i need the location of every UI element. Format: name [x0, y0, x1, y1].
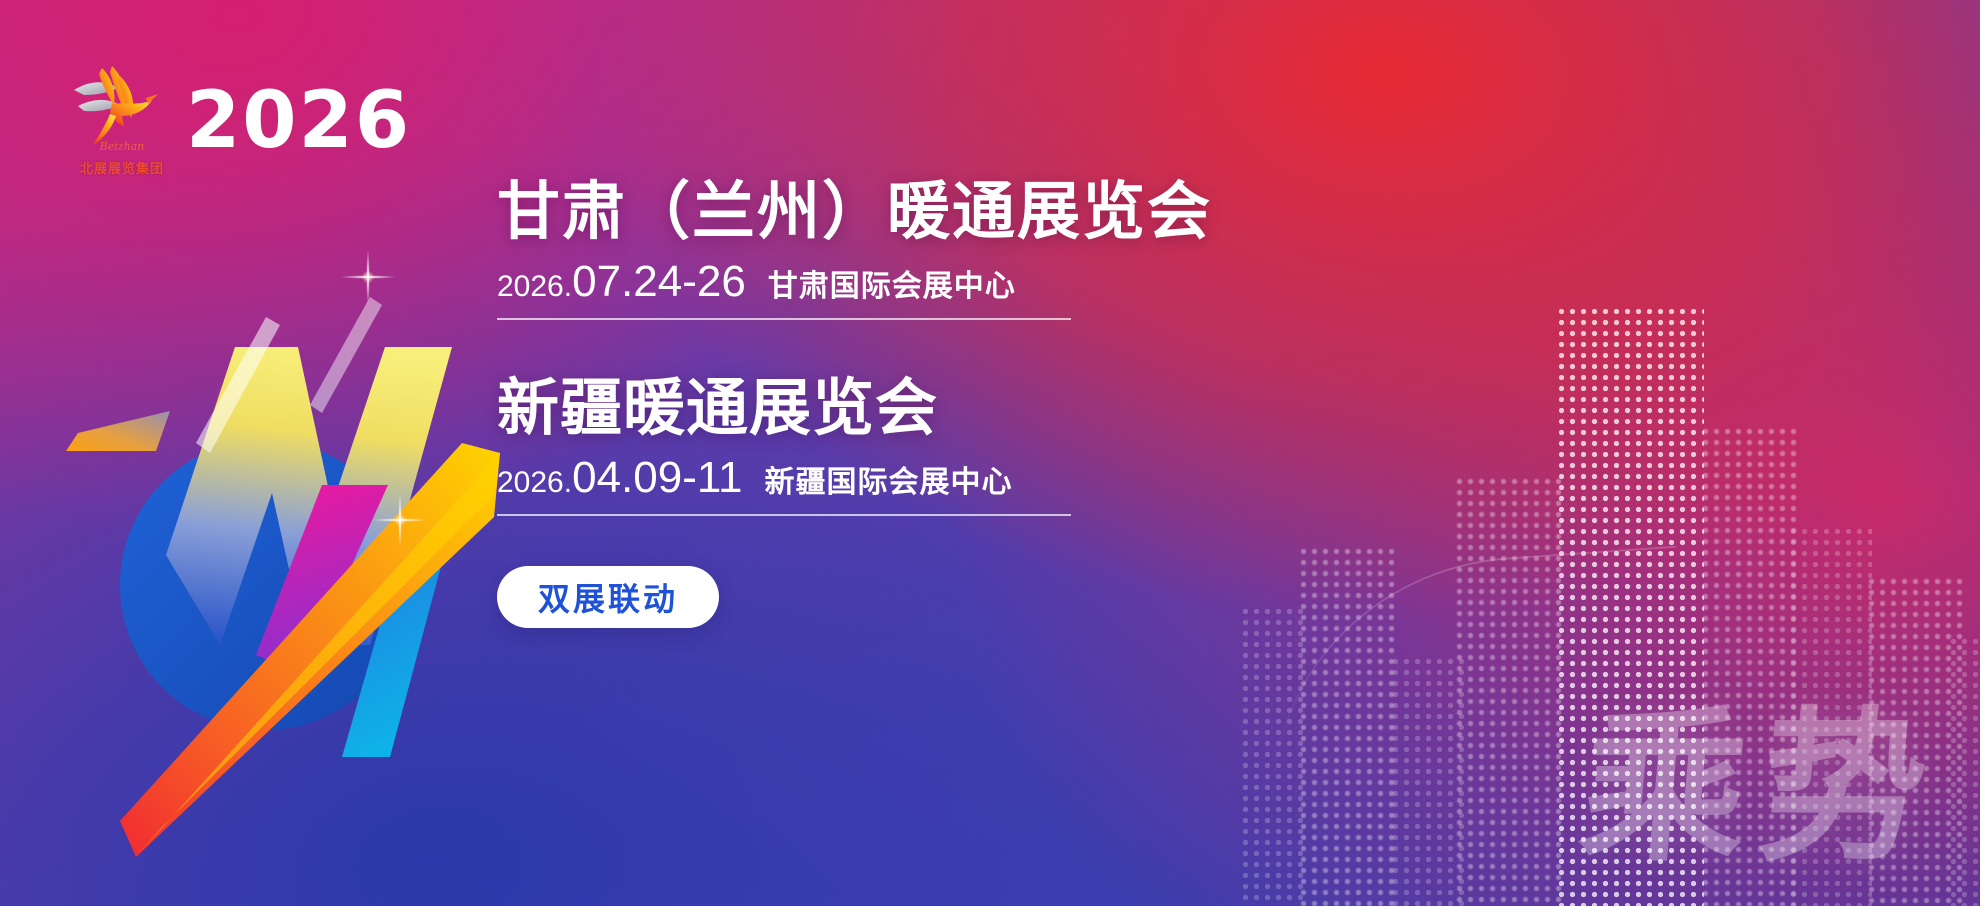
section-spacer — [497, 326, 1337, 372]
logo-company-name: 北展展览集团 — [74, 158, 170, 177]
nw-arrow-emblem-icon — [70, 255, 500, 885]
dual-show-badge[interactable]: 双展联动 — [497, 566, 719, 628]
building-9 — [1948, 636, 1980, 906]
date-separator: . — [564, 466, 572, 500]
building-1 — [1240, 606, 1306, 906]
show-meta-xinjiang: 2026 . 04.09-11 新疆国际会展中心 — [497, 444, 1071, 516]
show-block-gansu: 甘肃（兰州）暖通展览会 2026 . 07.24-26 甘肃国际会展中心 — [497, 175, 1337, 320]
show-date-xinjiang: 2026 . 04.09-11 — [497, 456, 743, 500]
date-main: 04.09-11 — [572, 456, 742, 500]
show-title-xinjiang: 新疆暖通展览会 — [497, 372, 1337, 444]
building-7 — [1788, 526, 1872, 906]
date-year-prefix: 2026 — [497, 466, 564, 500]
event-info-column: 甘肃（兰州）暖通展览会 2026 . 07.24-26 甘肃国际会展中心 新疆暖… — [497, 175, 1337, 628]
date-year-prefix: 2026 — [497, 270, 564, 304]
year-label: 2026 — [186, 84, 411, 158]
phoenix-bird-logo-icon: Beizhan 北展展览集团 — [68, 62, 164, 182]
building-5 — [1556, 306, 1704, 906]
date-separator: . — [564, 270, 572, 304]
building-6 — [1700, 426, 1796, 906]
show-venue-xinjiang: 新疆国际会展中心 — [765, 457, 1013, 501]
building-3 — [1390, 656, 1464, 906]
date-main: 07.24-26 — [572, 260, 746, 304]
show-block-xinjiang: 新疆暖通展览会 2026 . 04.09-11 新疆国际会展中心 — [497, 372, 1337, 516]
show-meta-gansu: 2026 . 07.24-26 甘肃国际会展中心 — [497, 248, 1071, 320]
show-title-gansu: 甘肃（兰州）暖通展览会 — [497, 175, 1337, 248]
show-venue-gansu: 甘肃国际会展中心 — [768, 261, 1016, 305]
event-banner: 乘势 — [0, 0, 1980, 906]
city-skyline-decoration — [1240, 230, 1980, 906]
logo-script-text: Beizhan — [74, 140, 170, 153]
building-4 — [1454, 476, 1566, 906]
show-date-gansu: 2026 . 07.24-26 — [497, 260, 746, 304]
brand-logo-block[interactable]: Beizhan 北展展览集团 2026 — [68, 62, 411, 182]
